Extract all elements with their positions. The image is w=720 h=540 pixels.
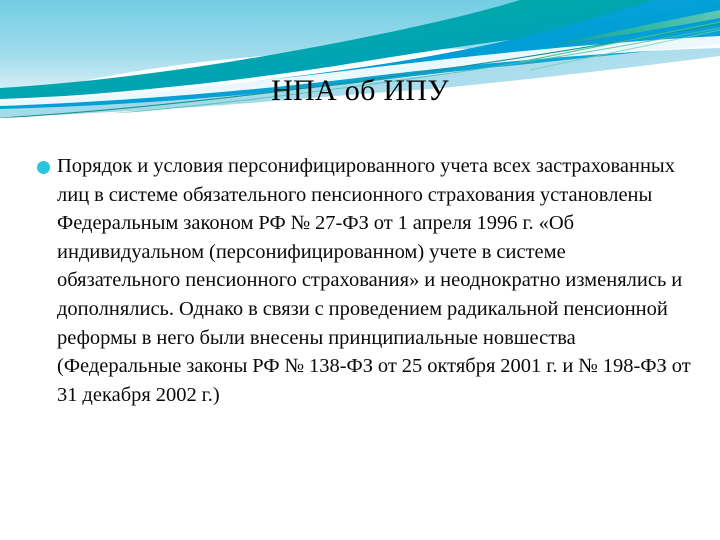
wave-green-strand-3 [530,30,720,70]
wave-banner-decoration [0,0,720,135]
bullet-item-text: Порядок и условия персонифицированного у… [57,152,692,409]
page-title: НПА об ИПУ [0,74,720,107]
slide: НПА об ИПУ Порядок и условия персонифици… [0,0,720,540]
wave-green-strand-1 [548,10,720,46]
slide-body: Порядок и условия персонифицированного у… [28,152,692,409]
bullet-circle-icon [37,161,50,174]
list-item: Порядок и условия персонифицированного у… [28,152,692,409]
wave-green-strand-2 [520,22,720,62]
